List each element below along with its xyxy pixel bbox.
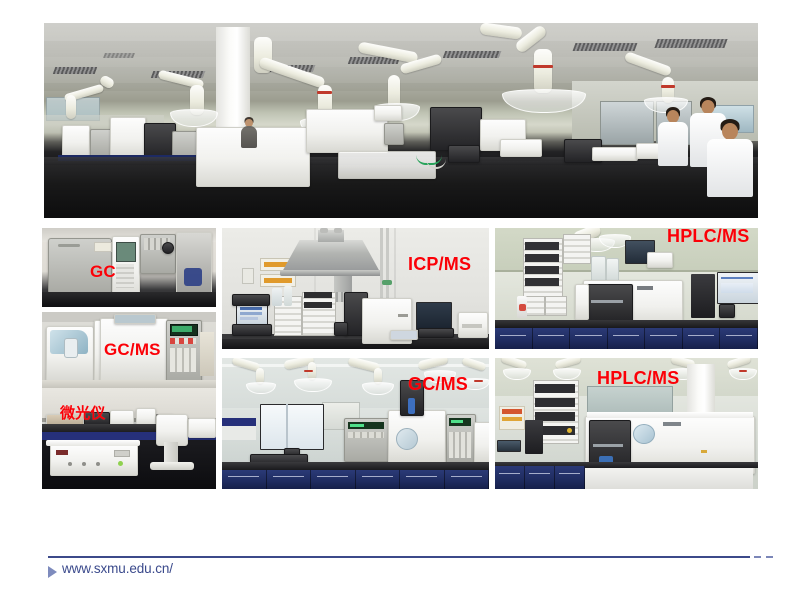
- monitor-stand: [719, 304, 735, 318]
- unit-badge: [398, 314, 408, 317]
- screen-row: [721, 277, 753, 279]
- cabinet: [495, 328, 533, 349]
- head: [722, 123, 738, 140]
- instrument-module: [448, 145, 480, 163]
- solvent-bottle: [272, 288, 282, 306]
- cabinet: [356, 470, 401, 489]
- hplc-pump: [545, 296, 567, 316]
- background-instrument: [62, 125, 90, 157]
- hero-scene: [44, 23, 758, 218]
- cabinet: [495, 466, 525, 489]
- analyzer-top: [46, 440, 140, 446]
- cabinet: [525, 466, 555, 489]
- arm-marker: [739, 370, 747, 372]
- laptop-lid: [232, 294, 270, 306]
- printer: [647, 252, 673, 268]
- cabinet-row: [495, 328, 758, 349]
- analyzer-button: [82, 462, 86, 466]
- cabinet-row: [495, 466, 585, 489]
- cabinet: [570, 328, 608, 349]
- analyzer-button: [68, 462, 72, 466]
- screen-plot: [721, 283, 753, 293]
- gc-ms-photo-bottom: GC/MS: [222, 358, 489, 489]
- hood-vent: [320, 228, 328, 233]
- display-readout: [350, 424, 364, 427]
- torso: [241, 126, 257, 148]
- interface-module: [575, 284, 589, 320]
- module-front: [525, 266, 559, 274]
- footer-dash: [766, 556, 773, 558]
- screen-row: [240, 312, 262, 315]
- photo-label-gcms: GC/MS: [104, 340, 161, 360]
- hplc-ms-photo-bottom: HPLC/MS: [495, 358, 758, 489]
- cabinet: [720, 328, 758, 349]
- extraction-hood: [170, 109, 218, 127]
- panoramic-laboratory-photo: [44, 23, 758, 218]
- photo-label-micro: 微光仪: [60, 402, 106, 423]
- gc-ms-photo: GC/MS: [42, 312, 216, 390]
- pedestal-stem: [164, 442, 178, 464]
- hplc-module: [563, 234, 591, 264]
- lab-coat: [658, 122, 688, 166]
- printer-tray: [462, 324, 482, 328]
- monitor: [497, 440, 521, 452]
- computer-tower: [691, 274, 715, 318]
- tower-badge: [184, 268, 202, 286]
- triangle-right-icon: [48, 566, 57, 578]
- ceiling-grille: [573, 43, 638, 51]
- arm-marker: [304, 370, 313, 372]
- cabinet-row: [222, 470, 489, 489]
- arm-marker: [474, 380, 483, 382]
- module-front: [525, 242, 559, 250]
- analyzer-label: [114, 450, 130, 457]
- ceiling-grille: [103, 53, 135, 58]
- gas-chromatograph-photo: GC: [42, 228, 216, 307]
- cabinet: [555, 466, 585, 489]
- person: [656, 107, 690, 165]
- document-stack: [592, 147, 638, 161]
- ceiling-grille: [654, 39, 727, 48]
- arm-marker: [661, 85, 675, 88]
- side-module: [200, 332, 214, 376]
- instrument-module: [374, 105, 402, 121]
- photo-label-hplcms-top: HPLC/MS: [667, 228, 749, 247]
- photo-label-gcms-bottom: GC/MS: [408, 374, 468, 395]
- gc-handle: [58, 244, 80, 247]
- ceiling-grille: [53, 67, 98, 74]
- module-front: [535, 398, 575, 407]
- photo-label-icpms: ICP/MS: [408, 254, 471, 275]
- person: [706, 119, 754, 193]
- cabinet: [267, 470, 312, 489]
- lab-coat: [707, 139, 753, 197]
- module-front: [304, 292, 332, 298]
- cabinet: [222, 426, 256, 440]
- unit-label: [663, 422, 681, 426]
- flow-gauges: [449, 432, 471, 458]
- hood-rim: [280, 270, 382, 276]
- hplc-stack: [302, 292, 336, 336]
- monitor: [416, 302, 452, 330]
- fume-extraction-arm: [534, 49, 552, 93]
- head: [702, 100, 715, 114]
- photo-label-gc: GC: [90, 262, 116, 282]
- pipe: [380, 228, 383, 302]
- gc-scene: [42, 228, 216, 307]
- bench: [222, 338, 489, 349]
- module-front: [535, 384, 575, 393]
- cabinet: [645, 328, 683, 349]
- gc-keypad: [116, 264, 134, 288]
- ms-emblem: [633, 424, 655, 444]
- instrument-module: [500, 139, 542, 157]
- unit-top: [587, 412, 753, 418]
- background-instrument: [110, 117, 146, 159]
- hplc-ms-photo-top: HPLC/MS: [495, 228, 758, 349]
- status-led: [701, 450, 707, 453]
- bench-top: [495, 320, 758, 328]
- bench: [42, 292, 216, 307]
- ceiling-band: [44, 23, 758, 41]
- cabinet: [445, 470, 490, 489]
- analyzer-display: [56, 450, 68, 455]
- analyzer-body: [50, 444, 138, 476]
- pump: [334, 322, 348, 336]
- gc-display: [116, 242, 136, 262]
- status-led: [567, 428, 572, 433]
- footer-url[interactable]: www.sxmu.edu.cn/: [62, 561, 173, 576]
- wall-sign: [499, 406, 525, 430]
- computer-tower: [525, 420, 543, 454]
- flow-gauges: [170, 348, 196, 372]
- door-glass: [600, 101, 654, 145]
- cabinet: [222, 470, 267, 489]
- wall-switch: [242, 268, 254, 284]
- screen-row: [240, 317, 258, 320]
- arm-marker: [533, 65, 553, 68]
- ms-source-housing: [587, 284, 633, 324]
- unit-badge: [593, 444, 623, 447]
- cabinet: [311, 470, 356, 489]
- instrument-module: [384, 123, 404, 145]
- keyboard: [390, 330, 418, 340]
- cabinet: [683, 328, 721, 349]
- solvent-bottle: [284, 286, 292, 306]
- unit-badge: [591, 300, 623, 303]
- screen-row: [240, 307, 262, 310]
- status-led: [118, 461, 123, 466]
- module-front: [525, 278, 559, 286]
- module-front: [525, 254, 559, 262]
- display-readout: [172, 326, 192, 332]
- unit-label: [637, 286, 653, 290]
- pedestal-base: [150, 462, 194, 470]
- indicator: [408, 398, 415, 414]
- display-readout: [451, 420, 463, 423]
- ceiling-grille: [443, 51, 502, 58]
- analyzer-button: [96, 462, 100, 466]
- bottle-cap: [519, 304, 526, 311]
- cabinet: [400, 470, 445, 489]
- gc-sticker: [94, 242, 112, 252]
- controller-buttons: [170, 338, 196, 344]
- side-instrument: [188, 418, 216, 438]
- presentation-slide: GC GC/MS: [0, 0, 800, 600]
- fume-extraction-arm: [66, 95, 76, 119]
- module-front: [304, 302, 332, 308]
- pipe: [386, 228, 389, 302]
- computer-tower: [176, 232, 212, 300]
- bench-top: [222, 462, 489, 470]
- side-module: [474, 422, 489, 464]
- sign-band: [502, 417, 522, 421]
- monitor: [260, 404, 324, 450]
- photo-label-hplcms-bottom: HPLC/MS: [597, 368, 679, 389]
- monitor: [717, 272, 758, 304]
- sign-band: [264, 278, 292, 283]
- ms-emblem: [396, 428, 418, 450]
- keyboard: [418, 328, 454, 338]
- cabinet-band: [222, 418, 256, 426]
- ms-door: [64, 338, 78, 358]
- icp-ms-photo: ICP/MS: [222, 228, 489, 349]
- icpms-scene: [222, 228, 489, 349]
- footer-divider: [48, 556, 750, 558]
- hood-vent: [334, 228, 342, 233]
- unit-lower-front: [585, 468, 753, 489]
- footer-dash: [754, 556, 761, 558]
- gc-keypad: [348, 432, 384, 438]
- person: [240, 117, 258, 147]
- cabinet: [533, 328, 571, 349]
- sign-band: [502, 409, 522, 414]
- keyboard: [232, 324, 272, 336]
- screen-split: [286, 404, 288, 448]
- gc-inlet: [114, 314, 156, 324]
- arm-marker: [317, 91, 332, 94]
- micro-light-instrument-photo: 微光仪: [42, 388, 216, 489]
- gc-knob: [162, 242, 174, 254]
- cabinet: [608, 328, 646, 349]
- valve: [382, 280, 392, 285]
